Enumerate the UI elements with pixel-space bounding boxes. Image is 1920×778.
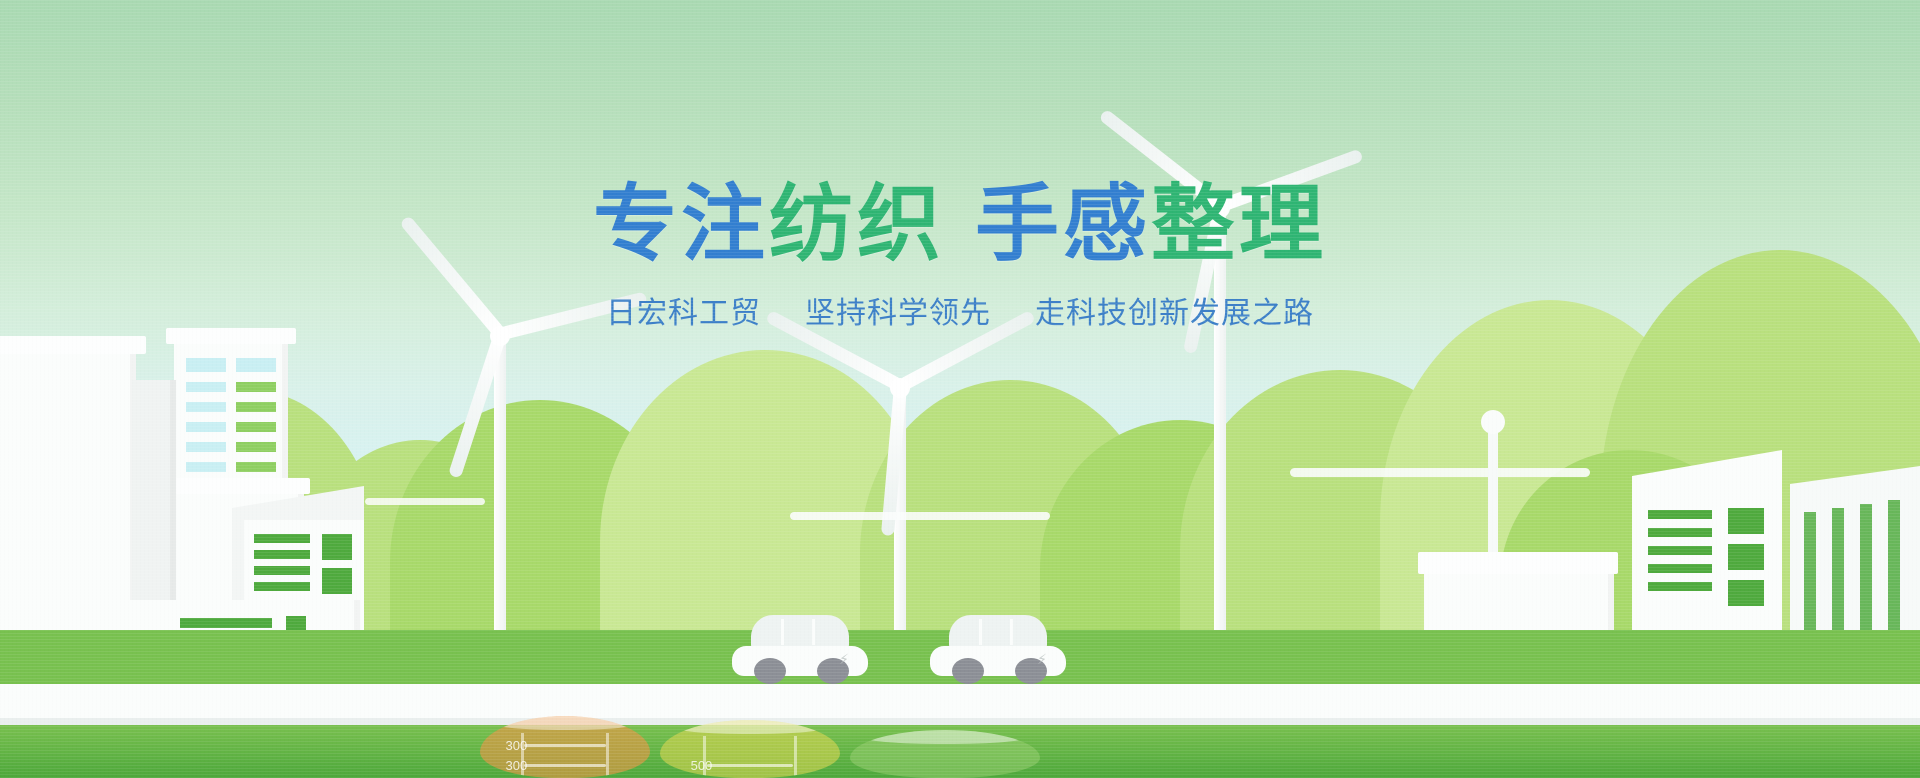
- beaker-lid: [861, 730, 1028, 744]
- window-stripe: [186, 422, 226, 432]
- beaker-mark-label: 500: [691, 758, 713, 773]
- window-stripe: [254, 550, 310, 559]
- lightning-bolt-icon: ⚡: [1037, 652, 1047, 666]
- window-grid: [12, 370, 100, 622]
- window-block: [1728, 508, 1764, 534]
- cityscape-illustration: ⚡ ⚡ 300 300 500: [0, 0, 1920, 778]
- window-stripe: [186, 462, 226, 472]
- headline-segment-3: 手感: [975, 177, 1151, 271]
- beaker-tick: [524, 744, 606, 747]
- wind-turbine-center: [820, 330, 980, 630]
- beaker-inner-wall: [521, 733, 609, 778]
- headline-segment-2: 纺织: [769, 177, 945, 271]
- beaker-yellow: 500: [660, 720, 840, 778]
- window-stripe: [1648, 510, 1712, 519]
- hero-banner: ⚡ ⚡ 300 300 500: [0, 0, 1920, 778]
- beaker-green: [850, 730, 1040, 778]
- window-stripe: [254, 534, 310, 543]
- beaker-lid: [671, 720, 829, 734]
- window-stripe: [186, 358, 226, 372]
- window-stripe: [180, 618, 272, 628]
- window-block: [322, 534, 352, 560]
- window-stripe: [186, 442, 226, 452]
- subtitle-part-3: 走科技创新发展之路: [1035, 297, 1314, 330]
- beaker-mark-label: 300: [506, 758, 528, 773]
- car-cabin: [751, 615, 849, 649]
- beaker-tick: [524, 764, 606, 767]
- window-stripe: [1648, 546, 1712, 555]
- building-left-tower-cap: [0, 336, 146, 354]
- turbine-blade-streak: [790, 512, 1050, 520]
- window-stripe: [1648, 564, 1712, 573]
- window-stripe: [236, 422, 276, 432]
- window-stripe: [186, 382, 226, 392]
- turbine-blade-streak: [1290, 468, 1590, 477]
- electric-car-left[interactable]: ⚡: [732, 618, 868, 684]
- window-stripe: [1648, 582, 1712, 591]
- car-wheel: [754, 658, 786, 684]
- window-stripe: [236, 358, 276, 372]
- building-right-factory-cap: [1418, 552, 1618, 574]
- antenna-knob: [1481, 410, 1505, 434]
- banner-text-block: 专注纺织手感整理 日宏科工贸坚持科学领先走科技创新发展之路: [0, 176, 1920, 334]
- window-stripe: [186, 402, 226, 412]
- car-wheel: [952, 658, 984, 684]
- window-stripe: [236, 442, 276, 452]
- page-subtitle: 日宏科工贸坚持科学领先走科技创新发展之路: [0, 294, 1920, 334]
- lightning-bolt-icon: ⚡: [839, 652, 849, 666]
- window-block: [286, 616, 306, 630]
- window-stripe: [254, 582, 310, 591]
- beaker-inner-wall: [703, 736, 797, 778]
- beaker-tick: [707, 764, 793, 767]
- subtitle-part-2: 坚持科学领先: [805, 297, 991, 330]
- turbine-hub: [890, 378, 910, 398]
- turbine-blade-streak: [365, 498, 485, 505]
- window-block: [322, 568, 352, 594]
- road-surface: [0, 684, 1920, 718]
- beaker-orange: 300 300: [480, 716, 650, 778]
- window-stripe: [254, 566, 310, 575]
- subtitle-part-1: 日宏科工贸: [606, 297, 761, 330]
- window-stripe: [1648, 528, 1712, 537]
- window-block: [1728, 544, 1764, 570]
- headline-segment-4: 整理: [1151, 177, 1327, 271]
- headline-segment-1: 专注: [593, 177, 769, 271]
- page-title: 专注纺织手感整理: [0, 176, 1920, 272]
- electric-car-right[interactable]: ⚡: [930, 618, 1066, 684]
- window-stripe: [236, 402, 276, 412]
- window-stripe: [236, 382, 276, 392]
- window-block: [1728, 580, 1764, 606]
- car-cabin: [949, 615, 1047, 649]
- beaker-lid: [490, 716, 640, 730]
- beaker-mark-label: 300: [506, 738, 528, 753]
- window-stripe: [236, 462, 276, 472]
- road-edge-shadow: [0, 718, 1920, 725]
- turbine-mast: [494, 334, 506, 664]
